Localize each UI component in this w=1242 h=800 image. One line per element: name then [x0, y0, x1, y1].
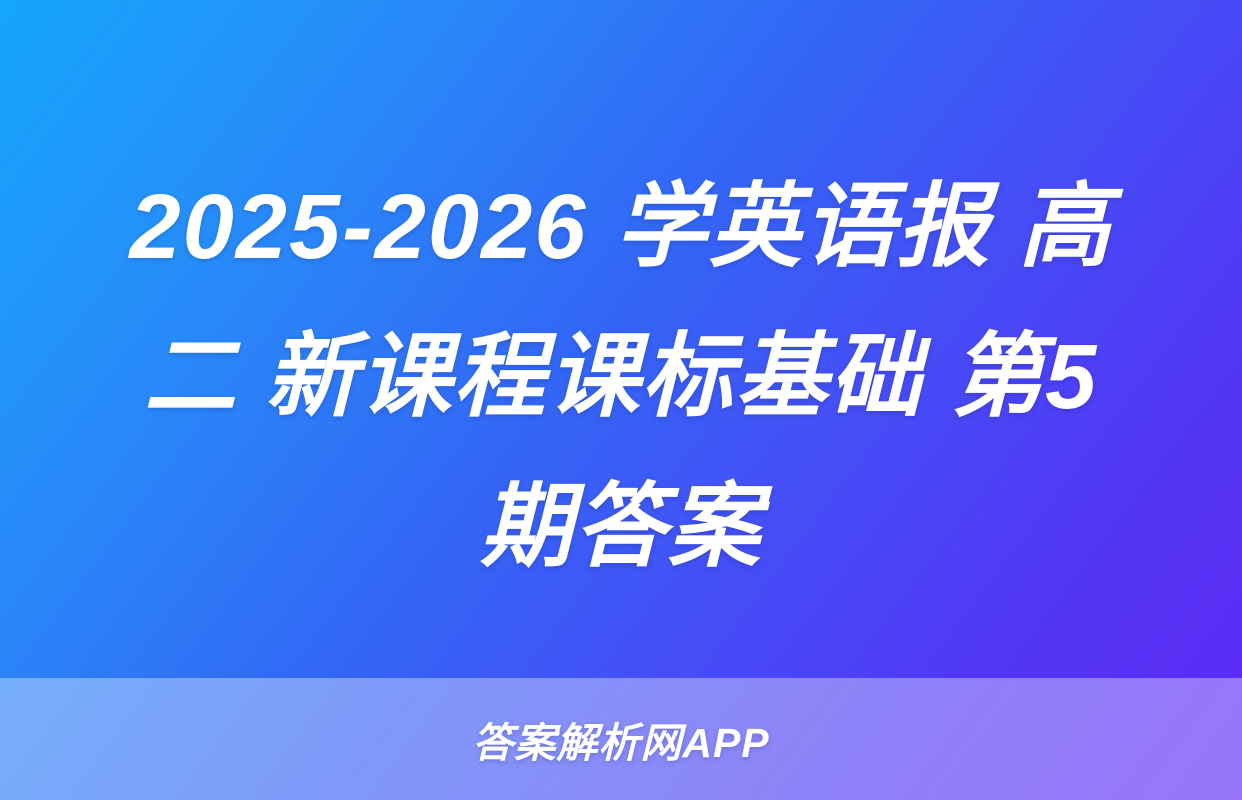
title-line-2: 二 新课程课标基础 第5: [28, 302, 1214, 452]
title-line-3: 期答案: [28, 452, 1214, 602]
poster-canvas: 2025-2026 学英语报 高 二 新课程课标基础 第5 期答案 答案解析网A…: [0, 0, 1242, 800]
title-line-1: 2025-2026 学英语报 高: [28, 152, 1214, 302]
poster-title: 2025-2026 学英语报 高 二 新课程课标基础 第5 期答案: [0, 152, 1242, 652]
footer-brand-band: 答案解析网APP: [0, 678, 1242, 800]
app-brand-label: 答案解析网APP: [472, 709, 769, 769]
